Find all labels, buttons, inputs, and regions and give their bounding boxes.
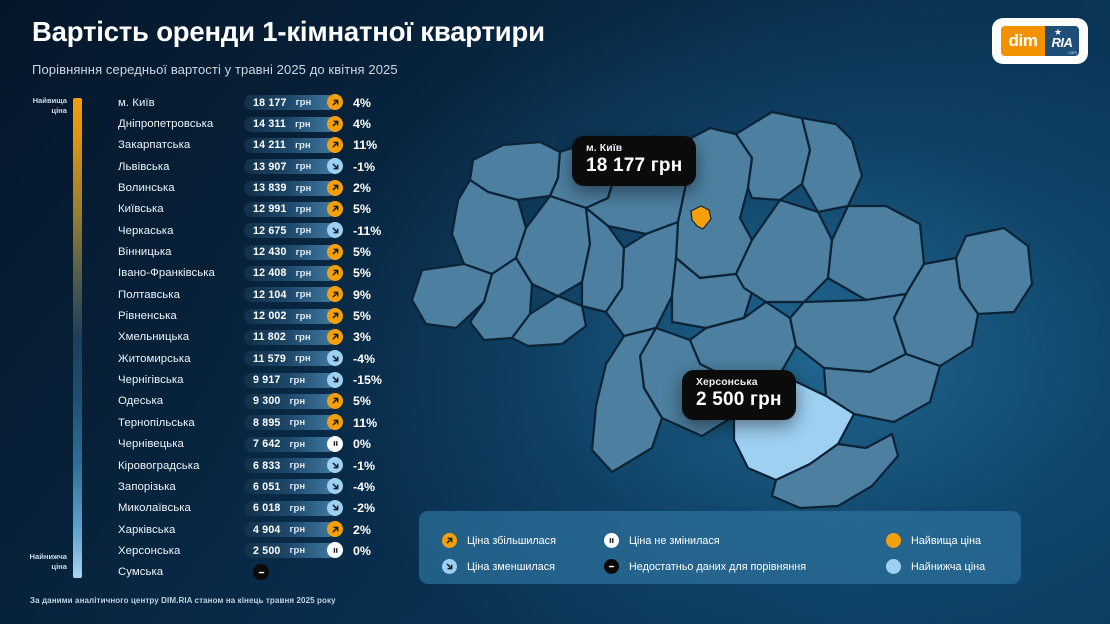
region-row[interactable]: Тернопільська8 895грн11% [118, 412, 408, 433]
trend-flat-icon [327, 542, 343, 558]
legend-label: Ціна зменшилася [467, 561, 555, 573]
legend-label: Ціна не змінилася [629, 535, 720, 547]
trend-up-icon [327, 116, 343, 132]
scale-top-label: Найвищаціна [5, 96, 67, 117]
price-value: 13 907 [253, 161, 287, 173]
legend-item: Ціна зменшилася [442, 559, 555, 574]
change-percent: -4% [353, 352, 375, 366]
footnote: За даними аналітичного центру DIM.RIA ст… [30, 596, 336, 605]
price-value: 12 002 [253, 310, 287, 322]
region-name: Хмельницька [118, 331, 244, 343]
region-row[interactable]: Хмельницька11 802грн3% [118, 327, 408, 348]
region-row[interactable]: м. Київ18 177грн4% [118, 92, 408, 113]
currency-label: грн [296, 311, 312, 322]
legend-item: Найнижча ціна [886, 559, 985, 574]
currency-label: грн [296, 161, 312, 172]
region-name: Миколаївська [118, 502, 244, 514]
currency-label: грн [290, 524, 306, 535]
price-value: 2 500 [253, 545, 281, 557]
region-name: Черкаська [118, 225, 244, 237]
trend-up-icon [327, 521, 343, 537]
currency-label: грн [295, 332, 311, 343]
currency-label: грн [296, 247, 312, 258]
currency-label: грн [296, 183, 312, 194]
legend-label: Недостатньо даних для порівняння [629, 561, 806, 573]
infographic-root: Вартість оренди 1-кімнатної квартири Пор… [0, 0, 1110, 624]
region-name: Волинська [118, 182, 244, 194]
currency-label: грн [296, 268, 312, 279]
logo-ria-block: ★ RIA .com [1045, 26, 1079, 56]
callout-kyiv: м. Київ 18 177 грн [572, 136, 696, 186]
region-row[interactable]: Дніпропетровська14 311грн4% [118, 113, 408, 134]
trend-down-icon [327, 478, 343, 494]
change-percent: 11% [353, 138, 377, 152]
currency-label: грн [290, 481, 306, 492]
currency-label: грн [295, 119, 311, 130]
region-row[interactable]: Вінницька12 430грн5% [118, 241, 408, 262]
change-percent: -2% [353, 501, 375, 515]
price-pill: 4 904грн [244, 522, 336, 537]
price-pill: 11 802грн [244, 330, 336, 345]
region-row[interactable]: Херсонська2 500грн0% [118, 540, 408, 561]
trend-flat-icon [327, 436, 343, 452]
region-price-list: м. Київ18 177грн4%Дніпропетровська14 311… [118, 92, 408, 583]
price-pill: 11 579грн [244, 351, 336, 366]
trend-down-icon [327, 158, 343, 174]
price-pill: 6 051грн [244, 479, 336, 494]
price-pill: 9 917грн [244, 373, 336, 388]
region-name: Запорізька [118, 481, 244, 493]
price-pill: 12 991грн [244, 202, 336, 217]
region-name: Рівненська [118, 310, 244, 322]
legend-pause-icon [604, 533, 619, 548]
region-name: Одеська [118, 395, 244, 407]
currency-label: грн [290, 439, 306, 450]
price-value: 6 018 [253, 502, 281, 514]
callout-kyiv-value: 18 177 грн [586, 155, 682, 177]
region-name: Житомирська [118, 353, 244, 365]
price-value: 12 675 [253, 225, 287, 237]
region-row[interactable]: Львівська13 907грн-1% [118, 156, 408, 177]
price-value: 9 300 [253, 395, 281, 407]
callout-kherson: Херсонська 2 500 грн [682, 370, 796, 420]
ukraine-map [400, 88, 1100, 518]
change-percent: -4% [353, 480, 375, 494]
price-pill: 12 430грн [244, 245, 336, 260]
region-row[interactable]: Кіровоградська6 833грн-1% [118, 455, 408, 476]
trend-up-icon [327, 393, 343, 409]
currency-label: грн [290, 545, 306, 556]
legend-minus-icon [604, 559, 619, 574]
change-percent: -1% [353, 459, 375, 473]
price-pill: 8 895грн [244, 415, 336, 430]
price-pill: 12 104грн [244, 287, 336, 302]
price-value: 8 895 [253, 417, 281, 429]
change-percent: 3% [353, 330, 371, 344]
trend-down-icon [327, 457, 343, 473]
change-percent: 5% [353, 266, 371, 280]
callout-kyiv-name: м. Київ [586, 143, 682, 154]
region-row[interactable]: Чернігівська9 917грн-15% [118, 369, 408, 390]
change-percent: 5% [353, 394, 371, 408]
price-pill: 14 311грн [244, 117, 336, 132]
trend-up-icon [327, 286, 343, 302]
legend-item: Найвища ціна [886, 533, 981, 548]
region-row[interactable]: Волинська13 839грн2% [118, 177, 408, 198]
region-dnipropetrovsk [790, 294, 906, 372]
change-percent: -15% [353, 373, 382, 387]
legend-label: Ціна збільшилася [467, 535, 556, 547]
change-percent: 2% [353, 523, 371, 537]
price-value: 13 839 [253, 182, 287, 194]
page-title: Вартість оренди 1-кімнатної квартири [32, 16, 545, 48]
region-row[interactable]: Закарпатська14 211грн11% [118, 135, 408, 156]
price-value: 12 991 [253, 203, 287, 215]
price-pill: 12 675грн [244, 223, 336, 238]
region-name: Херсонська [118, 545, 244, 557]
price-value: 12 430 [253, 246, 287, 258]
region-row[interactable]: Івано-Франківська12 408грн5% [118, 263, 408, 284]
price-value: 6 833 [253, 460, 281, 472]
change-percent: 5% [353, 309, 371, 323]
change-percent: 2% [353, 181, 371, 195]
region-name: Тернопільська [118, 417, 244, 429]
region-row[interactable]: Рівненська12 002грн5% [118, 305, 408, 326]
trend-down-icon [327, 372, 343, 388]
change-percent: 4% [353, 96, 371, 110]
region-row[interactable]: Житомирська11 579грн-4% [118, 348, 408, 369]
region-row[interactable]: Київська12 991грн5% [118, 199, 408, 220]
lowest-price-dot-icon [886, 559, 901, 574]
price-value: 14 211 [253, 139, 286, 151]
trend-up-icon [327, 201, 343, 217]
price-pill: 7 642грн [244, 437, 336, 452]
trend-up-icon [327, 244, 343, 260]
legend-item: Ціна збільшилася [442, 533, 556, 548]
currency-label: грн [290, 396, 306, 407]
legend-arrow-up-right-icon [442, 533, 457, 548]
change-percent: 5% [353, 202, 371, 216]
legend-label: Найнижча ціна [911, 561, 985, 573]
price-pill: 12 002грн [244, 309, 336, 324]
currency-label: грн [296, 289, 312, 300]
change-percent: -11% [353, 224, 381, 238]
trend-down-icon [327, 500, 343, 516]
logo-com-text: .com [1067, 50, 1077, 55]
change-percent: 0% [353, 437, 371, 451]
trend-up-icon [327, 180, 343, 196]
region-row[interactable]: Полтавська12 104грн9% [118, 284, 408, 305]
region-row[interactable]: Харківська4 904грн2% [118, 519, 408, 540]
price-scale-gradient [73, 98, 82, 578]
region-row[interactable]: Черкаська12 675грн-11% [118, 220, 408, 241]
price-value: 14 311 [253, 118, 286, 130]
scale-bottom-label: Найнижчаціна [5, 552, 67, 573]
no-data-icon [253, 564, 269, 580]
price-value: 6 051 [253, 481, 281, 493]
region-name: Полтавська [118, 289, 244, 301]
region-row[interactable]: Одеська9 300грн5% [118, 391, 408, 412]
region-name: Кіровоградська [118, 460, 244, 472]
change-percent: 9% [353, 288, 371, 302]
trend-down-icon [327, 222, 343, 238]
trend-up-icon [327, 414, 343, 430]
legend-label: Найвища ціна [911, 535, 981, 547]
price-value: 12 104 [253, 289, 287, 301]
trend-up-icon [327, 329, 343, 345]
region-row[interactable]: Чернівецька7 642грн0% [118, 434, 408, 455]
logo-ria-text: RIA [1052, 36, 1073, 49]
region-row[interactable]: Запорізька6 051грн-4% [118, 476, 408, 497]
region-name: Дніпропетровська [118, 118, 244, 130]
price-value: 18 177 [253, 97, 287, 109]
region-row[interactable]: Миколаївська6 018грн-2% [118, 498, 408, 519]
currency-label: грн [290, 460, 306, 471]
currency-label: грн [290, 503, 306, 514]
logo-dim-text: dim [1001, 26, 1045, 56]
star-icon: ★ [1054, 28, 1062, 37]
dimria-logo[interactable]: dim ★ RIA .com [992, 18, 1088, 64]
trend-up-icon [327, 308, 343, 324]
currency-label: грн [296, 204, 312, 215]
price-pill: 12 408грн [244, 266, 336, 281]
price-pill: 14 211грн [244, 138, 336, 153]
trend-up-icon [327, 265, 343, 281]
change-percent: -1% [353, 160, 375, 174]
price-value: 9 917 [253, 374, 281, 386]
currency-label: грн [295, 353, 311, 364]
price-value: 12 408 [253, 267, 287, 279]
price-pill: 6 833грн [244, 458, 336, 473]
region-name: Харківська [118, 524, 244, 536]
price-pill: 13 839грн [244, 181, 336, 196]
region-name: м. Київ [118, 97, 244, 109]
legend-panel: Ціна збільшиласяЦіна зменшиласяЦіна не з… [419, 511, 1021, 584]
highest-price-dot-icon [886, 533, 901, 548]
currency-label: грн [290, 417, 306, 428]
legend-item: Ціна не змінилася [604, 533, 720, 548]
legend-item: Недостатньо даних для порівняння [604, 559, 806, 574]
currency-label: грн [296, 225, 312, 236]
currency-label: грн [290, 375, 306, 386]
change-percent: 4% [353, 117, 371, 131]
region-name: Івано-Франківська [118, 267, 244, 279]
legend-arrow-down-right-icon [442, 559, 457, 574]
region-name: Київська [118, 203, 244, 215]
region-name: Львівська [118, 161, 244, 173]
callout-kherson-value: 2 500 грн [696, 389, 782, 411]
price-value: 11 802 [253, 331, 286, 343]
region-poltava [736, 200, 832, 302]
change-percent: 11% [353, 416, 377, 430]
price-value: 4 904 [253, 524, 281, 536]
price-value: 11 579 [253, 353, 286, 365]
ukraine-map-svg [400, 88, 1100, 518]
currency-label: грн [296, 97, 312, 108]
change-percent: 0% [353, 544, 371, 558]
region-name: Вінницька [118, 246, 244, 258]
trend-up-icon [327, 137, 343, 153]
price-pill: 18 177грн [244, 95, 336, 110]
region-row[interactable]: Сумська [118, 562, 408, 583]
region-sumy [802, 118, 862, 212]
page-subtitle: Порівняння середньої вартості у травні 2… [32, 62, 398, 77]
region-name: Чернігівська [118, 374, 244, 386]
trend-up-icon [327, 94, 343, 110]
price-value: 7 642 [253, 438, 281, 450]
change-percent: 5% [353, 245, 371, 259]
price-pill: 6 018грн [244, 501, 336, 516]
region-name: Чернівецька [118, 438, 244, 450]
price-pill: 9 300грн [244, 394, 336, 409]
price-pill: 13 907грн [244, 159, 336, 174]
logo-inner: dim ★ RIA .com [1001, 26, 1079, 56]
callout-kherson-name: Херсонська [696, 377, 782, 388]
currency-label: грн [295, 140, 311, 151]
price-pill: 2 500грн [244, 543, 336, 558]
region-name: Закарпатська [118, 139, 244, 151]
trend-down-icon [327, 350, 343, 366]
region-name: Сумська [118, 566, 244, 578]
